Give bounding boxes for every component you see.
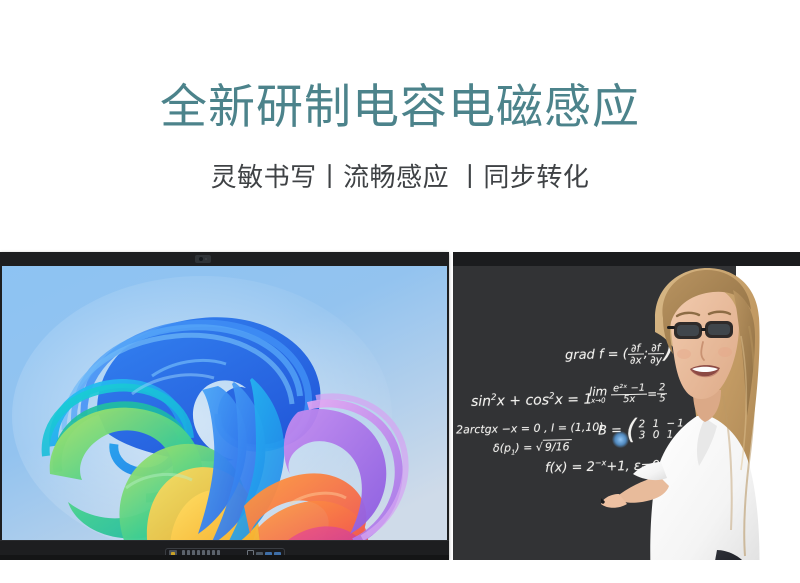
taskbar-app-icon[interactable] — [192, 550, 195, 557]
display-top-bezel — [0, 252, 449, 266]
taskbar-app-icon[interactable] — [182, 550, 185, 557]
equation-delta-lead: δ(p — [493, 441, 511, 454]
bottom-white-area — [0, 560, 800, 583]
flat-panel-display[interactable] — [0, 252, 449, 560]
taskbar-app-icon[interactable] — [207, 550, 210, 557]
taskbar-app-icon[interactable] — [202, 550, 205, 557]
taskbar-app-icon[interactable] — [197, 550, 200, 557]
hero-section: 全新研制电容电磁感应 灵敏书写丨流畅感应 丨同步转化 — [0, 0, 800, 252]
tray-network-icon[interactable] — [247, 550, 254, 557]
equation-sin-b: x + cos — [496, 392, 549, 409]
page-title: 全新研制电容电磁感应 — [0, 79, 800, 135]
equation-arctan: 2arctgx −x = 0 , I = (1,10) — [456, 420, 604, 436]
tray-clock-icon[interactable] — [274, 552, 281, 556]
equation-delta: δ(p1) = √9/16 — [493, 440, 572, 457]
taskbar-app-icon[interactable] — [217, 550, 220, 557]
start-button-icon[interactable] — [169, 550, 177, 558]
equation-pythagorean-identity: sin2x + cos2x = 1 — [471, 391, 593, 410]
taskbar-app-icon[interactable] — [187, 550, 190, 557]
equation-sin-a: sin — [471, 394, 491, 410]
equation-fx-lead: f(x) = 2 — [545, 460, 595, 476]
taskbar-app-icon[interactable] — [212, 550, 215, 557]
page-subtitle: 灵敏书写丨流畅感应 丨同步转化 — [0, 160, 800, 194]
taskbar-pinned-icons[interactable] — [182, 550, 220, 557]
display-screen[interactable] — [2, 266, 447, 541]
display-bottom-bezel — [0, 540, 449, 560]
equation-sin-c: x = 1 — [554, 391, 592, 408]
presenter-photo — [601, 266, 800, 583]
tray-volume-icon[interactable] — [256, 552, 263, 556]
device-showcase: grad f = (∂f∂x;∂f∂y) sin2x + cos2x = 1 l… — [0, 252, 800, 583]
equation-delta-mid: ) = — [515, 441, 536, 454]
equation-delta-radical: 9/16 — [543, 439, 572, 454]
bloom-wallpaper — [2, 266, 447, 541]
camera-icon — [195, 255, 211, 263]
taskbar-system-tray[interactable] — [247, 550, 281, 557]
tray-battery-icon[interactable] — [265, 552, 272, 556]
windows-taskbar[interactable] — [165, 548, 285, 559]
